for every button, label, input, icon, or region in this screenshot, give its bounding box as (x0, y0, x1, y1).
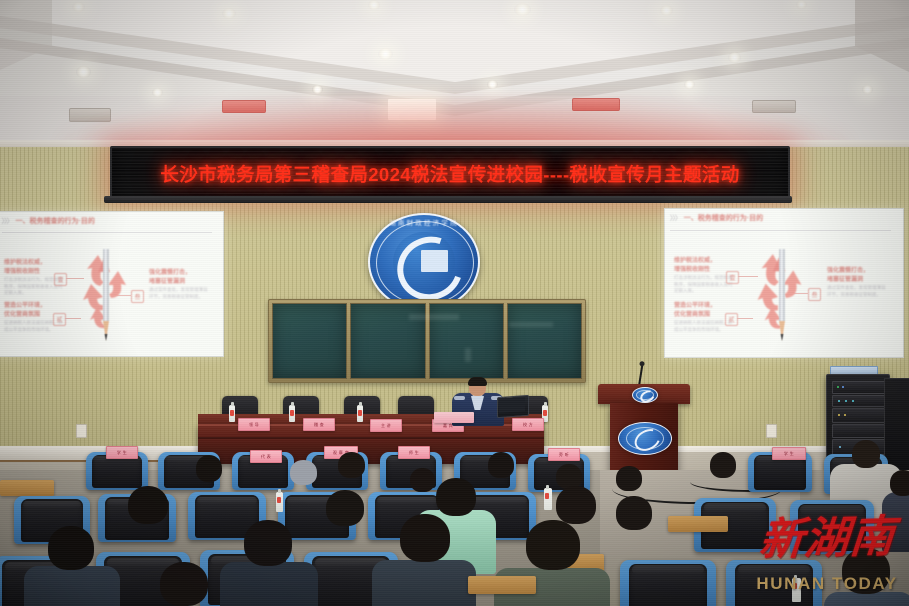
callout-heading: 营造公平环境， (674, 302, 736, 311)
university-emblem: 湖南财政经济学院 Hunan University of Finance and… (368, 213, 480, 311)
callout-badge: 壹 (726, 271, 739, 284)
chalkboard-panel (272, 303, 347, 379)
ceiling (0, 0, 909, 152)
water-bottle (357, 405, 363, 422)
slide-callout: 强化震慑打击， 堵塞征管漏洞 通过案件查处，发现管理薄弱环节，完善税收征管制度。 (149, 269, 211, 300)
water-bottle (289, 405, 295, 422)
slide-rule (2, 232, 212, 233)
ceiling-downlight (728, 52, 741, 63)
lectern-emblem-small (632, 387, 658, 403)
status-led (839, 446, 841, 448)
led-banner-bottom-frame (104, 196, 792, 203)
ceiling-downlight (487, 80, 498, 89)
placard-text: 领 导 (249, 422, 259, 428)
callout-heading: 强化震慑打击， (827, 267, 889, 276)
person-head (890, 470, 909, 496)
rack-unit[interactable] (832, 381, 886, 394)
chevron-right-icon: 〉〉〉 (2, 216, 13, 226)
projection-screen-left: 〉〉〉 一、税务稽查的行为·目的 维护税法权威， 增强税收刚性 打击涉税违法行为… (0, 211, 224, 357)
seat-name-card: 代 表 (250, 450, 282, 463)
person-head (400, 514, 450, 562)
seat-writing-tablet (0, 480, 54, 496)
officer-hair (468, 377, 487, 386)
auditorium-photo: 长沙市税务局第三稽查局2024税法宣传进校园----税收宣传月主题活动 〉〉〉 … (0, 0, 909, 606)
status-led (845, 400, 847, 402)
person-head (290, 460, 317, 485)
chalk-smudge (509, 322, 553, 327)
person-head (616, 496, 652, 530)
placard-text: 主 讲 (381, 423, 391, 429)
projection-screen-right: 〉〉〉 一、税务稽查的行为·目的 维护税法权威， 增强税收刚性 打击涉税违法行为… (664, 208, 904, 358)
audience-seat[interactable] (620, 560, 716, 606)
chalk-smudge (465, 348, 471, 362)
led-event-banner: 长沙市税务局第三稽查局2024税法宣传进校园----税收宣传月主题活动 (110, 146, 790, 202)
status-led (844, 414, 846, 416)
wall-power-outlet (766, 424, 777, 438)
person-shoulders (882, 492, 909, 552)
callout-heading: 强化震慑打击， (149, 269, 211, 278)
slide-pencil-icon (776, 248, 788, 347)
slide-heading-left: 〉〉〉 一、税务稽查的行为·目的 (2, 216, 210, 226)
person-head (488, 452, 514, 478)
person-head (526, 520, 580, 570)
seat-name-card: 师 生 (398, 446, 430, 459)
callout-heading: 维护税法权威， (4, 259, 66, 268)
person-head (244, 520, 292, 566)
callout-badge: 壹 (54, 273, 67, 286)
emblem-name-cn: 湖南财政经济学院 (368, 217, 480, 227)
person-head (160, 562, 208, 606)
seat-card-text: 学 生 (784, 451, 794, 457)
slide-title: 一、税务稽查的行为·目的 (16, 216, 95, 226)
slide-rule (670, 230, 891, 231)
callout-heading2: 堵塞征管漏洞 (827, 276, 889, 285)
slide-pencil-icon (100, 249, 112, 346)
callout-badge: 贰 (53, 313, 66, 326)
ceiling-downlight (660, 5, 673, 16)
chevron-right-icon: 〉〉〉 (670, 213, 681, 223)
rack-unit[interactable] (832, 395, 886, 407)
person-head (616, 466, 642, 491)
led-banner-text: 长沙市税务局第三稽查局2024税法宣传进校园----税收宣传月主题活动 (160, 161, 739, 187)
seat-name-card: 学 生 (772, 447, 806, 460)
person-head (710, 452, 736, 478)
chalk-smudge (409, 314, 459, 320)
ceiling-downlight (72, 2, 85, 12)
callout-badge: 贰 (725, 313, 738, 326)
seat-card-text: 代 表 (261, 454, 271, 460)
ceiling-downlight (684, 80, 695, 89)
audience-seat[interactable] (726, 560, 822, 606)
person-head (556, 486, 596, 524)
person-head (128, 486, 168, 524)
status-led (842, 386, 844, 388)
callout-heading: 营造公平环境， (4, 302, 66, 311)
name-placard: 稽 查 (303, 418, 335, 431)
person-head (48, 526, 94, 570)
callout-body: 通过案件查处，发现管理薄弱环节，完善税收征管制度。 (827, 285, 889, 298)
name-placard: 主 讲 (370, 419, 402, 432)
callout-heading: 维护税法权威， (674, 257, 736, 266)
callout-heading2: 堵塞征管漏洞 (149, 278, 211, 287)
ceiling-downlight (378, 48, 393, 60)
speaker-laptop (497, 396, 531, 418)
person-head (436, 478, 476, 516)
name-placard: 校 方 (512, 418, 544, 431)
person-shoulders (24, 566, 120, 606)
seat-writing-tablet (468, 576, 536, 594)
person-shoulders (220, 562, 318, 606)
ceiling-downlight (514, 3, 531, 16)
person-shoulders (372, 560, 476, 606)
water-bottle (229, 405, 235, 422)
person-head (196, 455, 222, 482)
slide-heading-right: 〉〉〉 一、税务稽查的行为·目的 (670, 213, 889, 223)
lectern (598, 384, 690, 478)
water-bottle (276, 492, 283, 512)
slide-title: 一、税务稽查的行为·目的 (684, 213, 763, 223)
officer-epaulette (454, 396, 465, 400)
ceiling-downlight (312, 85, 323, 94)
seat-card-text: 师 生 (409, 450, 419, 456)
slide-callout: 强化震慑打击， 堵塞征管漏洞 通过案件查处，发现管理薄弱环节，完善税收征管制度。 (827, 267, 889, 298)
seat-name-card: 旁 听 (548, 448, 580, 461)
seat-card-text: 旁 听 (559, 452, 569, 458)
wall-power-outlet (76, 424, 87, 438)
chalkboard (268, 299, 586, 383)
person-shoulders (824, 592, 909, 606)
water-bottle (544, 488, 552, 510)
seat-card-text: 学 生 (117, 450, 127, 456)
status-led (852, 400, 854, 402)
person-head (326, 490, 364, 526)
ceiling-downlight (222, 8, 236, 19)
chalkboard-panel (507, 303, 582, 379)
rack-unit[interactable] (832, 408, 886, 423)
rack-unit[interactable] (832, 424, 886, 438)
ceiling-downlight (862, 85, 873, 94)
person-head (842, 548, 890, 594)
audience-seat[interactable] (790, 500, 874, 554)
placard-text: 校 方 (523, 422, 533, 428)
ceiling-downlight (368, 0, 380, 10)
person-head (852, 440, 880, 468)
water-bottle (792, 578, 801, 602)
status-led (837, 386, 839, 388)
status-led (838, 400, 840, 402)
status-led (838, 414, 840, 416)
placard-text: 稽 查 (314, 422, 324, 428)
speaker-documents (434, 412, 474, 423)
seat-name-card: 学 生 (106, 446, 138, 459)
callout-body: 通过案件查处，发现管理薄弱环节，完善税收征管制度。 (149, 287, 211, 300)
person-head (338, 452, 365, 478)
name-placard: 领 导 (238, 418, 270, 431)
ceiling-downlight (796, 0, 807, 9)
seat-writing-tablet (668, 516, 728, 532)
person-head (410, 468, 435, 492)
lectern-emblem-large (618, 422, 672, 455)
ceiling-downlight (76, 66, 91, 78)
